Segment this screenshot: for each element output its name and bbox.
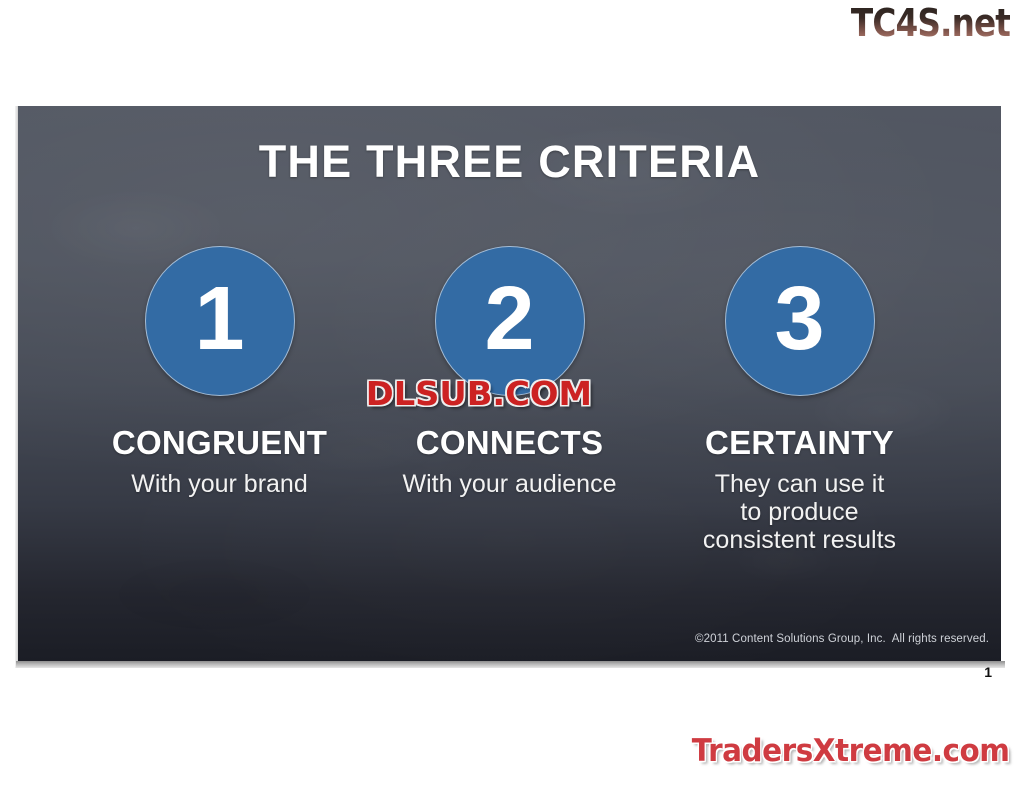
criteria-item-1: 1 CONGRUENT With your brand [75,246,365,498]
criteria-item-3: 3 CERTAINTY They can use it to produce c… [655,246,945,554]
slide: THE THREE CRITERIA 1 CONGRUENT With your… [18,106,1001,661]
slide-container: THE THREE CRITERIA 1 CONGRUENT With your… [18,106,1001,661]
criteria-columns: 1 CONGRUENT With your brand 2 CONNECTS W… [18,246,1001,554]
number-badge-2: 2 [435,246,585,396]
criteria-title-3: CERTAINTY [655,424,945,462]
copyright-notice: ©2011 Content Solutions Group, Inc. All … [695,633,989,645]
number-badge-1: 1 [145,246,295,396]
criteria-subtitle-2: With your audience [365,470,655,498]
page-title: THE THREE CRITERIA [18,136,1001,188]
number-badge-3: 3 [725,246,875,396]
number-badge-label: 2 [484,274,534,364]
criteria-item-2: 2 CONNECTS With your audience [365,246,655,498]
criteria-title-2: CONNECTS [365,424,655,462]
criteria-subtitle-3: They can use it to produce consistent re… [655,470,945,554]
criteria-title-1: CONGRUENT [75,424,365,462]
criteria-subtitle-1: With your brand [75,470,365,498]
site-logo-top: TC4S.net [851,4,1010,44]
number-badge-label: 1 [194,274,244,364]
site-logo-bottom: TradersXtreme.com [692,733,1010,769]
number-badge-label: 3 [774,274,824,364]
slide-bottom-shadow [16,661,1005,668]
page-number: 1 [984,664,992,680]
